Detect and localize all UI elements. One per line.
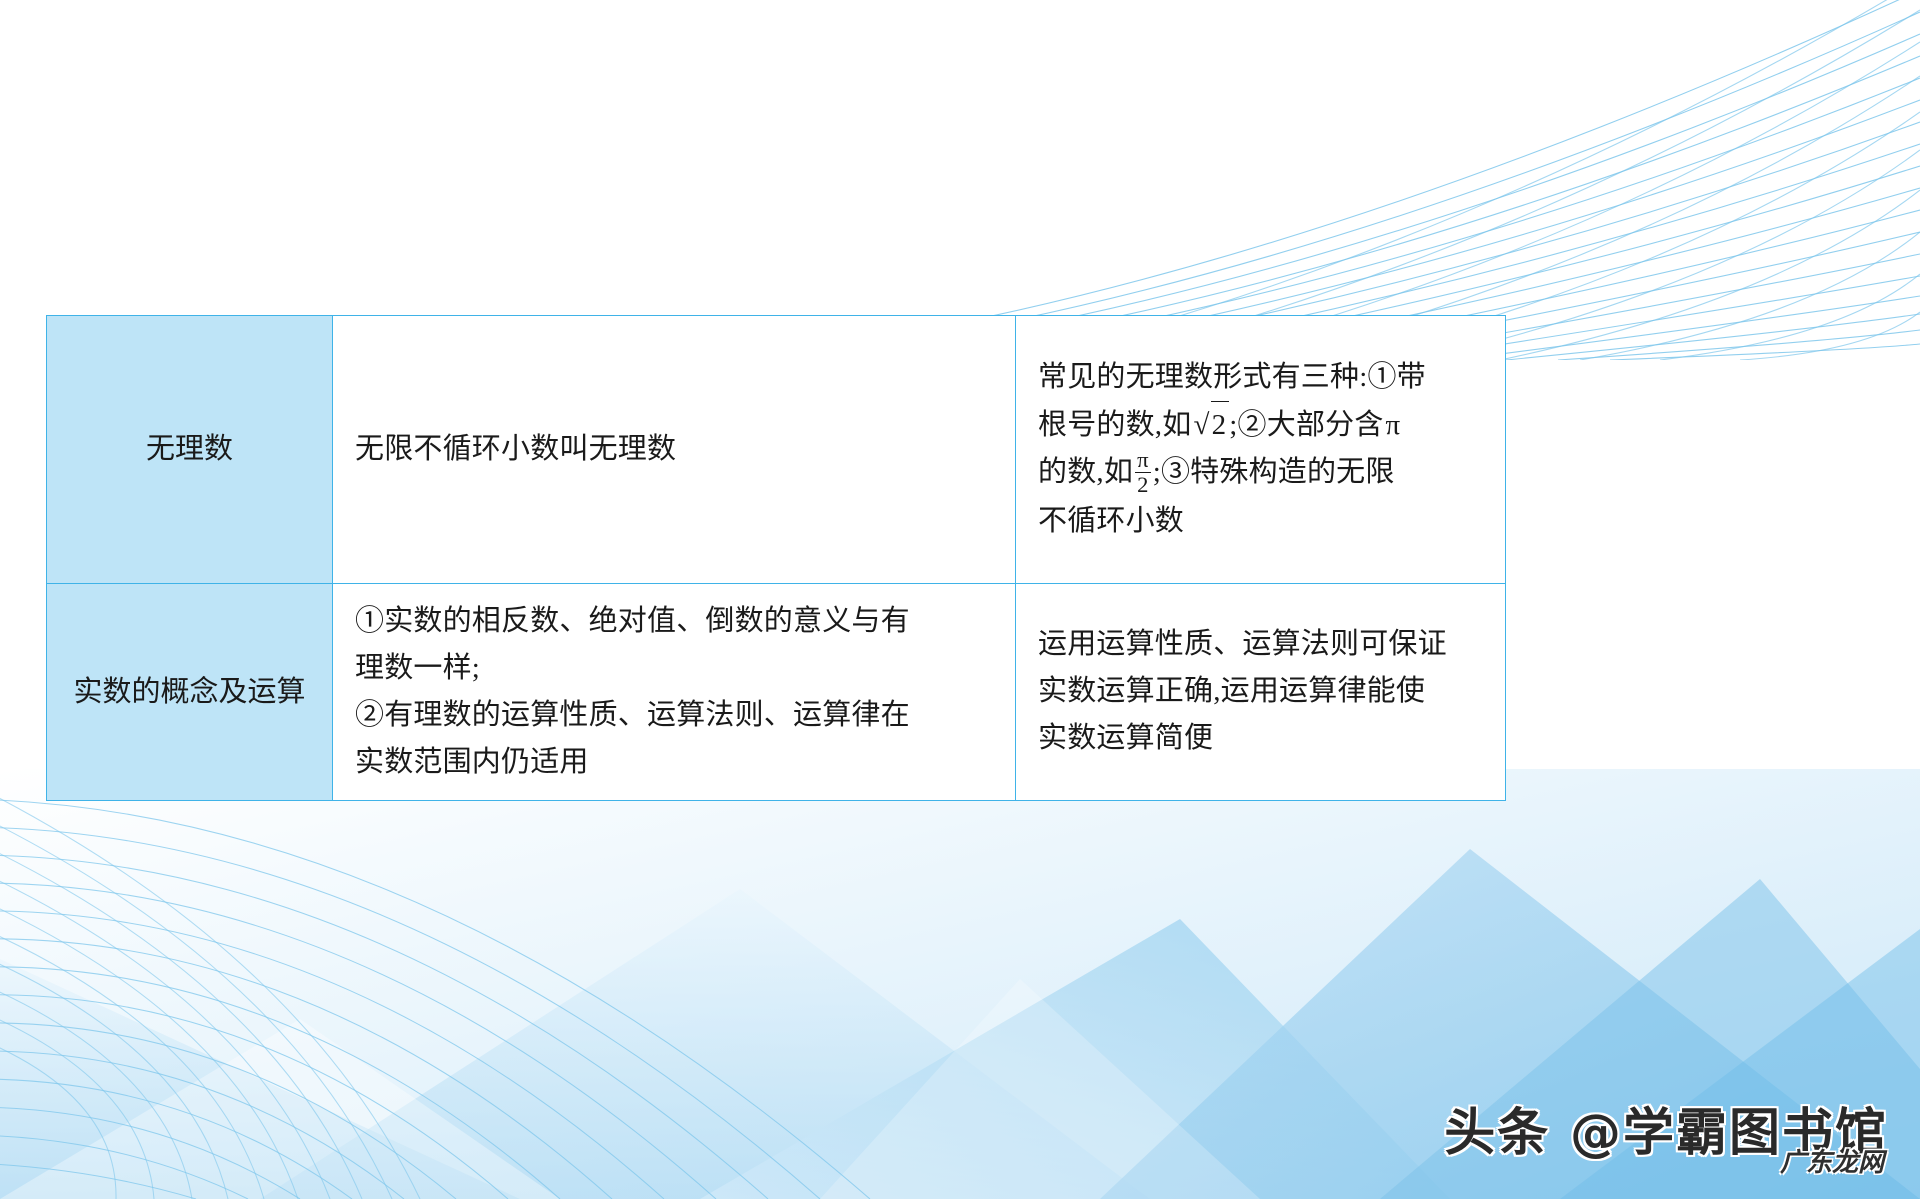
term-label: 实数的概念及运算 (73, 676, 305, 708)
note-line-2: 根号的数,如√2;②大部分含π (1038, 401, 1483, 449)
fraction-pi-over-two: π2 (1135, 448, 1151, 497)
definition-line-1: ①实数的相反数、绝对值、倒数的意义与有 (355, 598, 993, 645)
concept-summary-table: 无理数 无限不循环小数叫无理数 常见的无理数形式有三种:①带 根号的数,如√2;… (46, 315, 1506, 801)
sqrt-radicand: 2 (1211, 401, 1230, 449)
note-line-3: 实数运算简便 (1038, 715, 1483, 762)
sqrt-two: √2 (1191, 401, 1229, 449)
table-cell-note: 常见的无理数形式有三种:①带 根号的数,如√2;②大部分含π 的数,如π2;③特… (1016, 316, 1506, 584)
note-line-3: 的数,如π2;③特殊构造的无限 (1038, 449, 1483, 499)
note-line-1: 运用运算性质、运算法则可保证 (1038, 621, 1483, 668)
table-row: 无理数 无限不循环小数叫无理数 常见的无理数形式有三种:①带 根号的数,如√2;… (47, 316, 1506, 584)
top-right-line-fan-decoration (770, 0, 1920, 360)
bottom-left-line-fan-decoration (0, 769, 900, 1199)
table-cell-term: 无理数 (47, 316, 333, 584)
definition-line-3: ②有理数的运算性质、运算法则、运算律在 (355, 692, 993, 739)
note-text: 常见的无理数形式有三种:①带 根号的数,如√2;②大部分含π 的数,如π2;③特… (1016, 340, 1505, 560)
note-line-1: 常见的无理数形式有三种:①带 (1038, 354, 1483, 401)
note-line-2-prefix: 根号的数,如 (1038, 409, 1191, 441)
table-cell-definition: ①实数的相反数、绝对值、倒数的意义与有 理数一样; ②有理数的运算性质、运算法则… (333, 584, 1016, 801)
note-text: 运用运算性质、运算法则可保证 实数运算正确,运用运算律能使 实数运算简便 (1016, 607, 1505, 776)
term-label: 无理数 (146, 433, 233, 465)
pi-symbol: π (1384, 409, 1403, 441)
note-line-3-suffix: ;③特殊构造的无限 (1153, 456, 1395, 488)
table-cell-note: 运用运算性质、运算法则可保证 实数运算正确,运用运算律能使 实数运算简便 (1016, 584, 1506, 801)
note-line-2: 实数运算正确,运用运算律能使 (1038, 668, 1483, 715)
table-cell-term: 实数的概念及运算 (47, 584, 333, 801)
note-line-4: 不循环小数 (1038, 498, 1483, 545)
definition-line-4: 实数范围内仍适用 (355, 739, 993, 786)
definition-line-2: 理数一样; (355, 645, 993, 692)
table-row: 实数的概念及运算 ①实数的相反数、绝对值、倒数的意义与有 理数一样; ②有理数的… (47, 584, 1506, 801)
fraction-denominator: 2 (1135, 472, 1151, 497)
fraction-numerator: π (1135, 448, 1151, 472)
definition-text: 无限不循环小数叫无理数 (333, 426, 1015, 473)
table-cell-definition: 无限不循环小数叫无理数 (333, 316, 1016, 584)
note-line-3-prefix: 的数,如 (1038, 456, 1133, 488)
definition-text: ①实数的相反数、绝对值、倒数的意义与有 理数一样; ②有理数的运算性质、运算法则… (333, 584, 1015, 800)
note-line-2-mid: ;②大部分含 (1229, 409, 1383, 441)
